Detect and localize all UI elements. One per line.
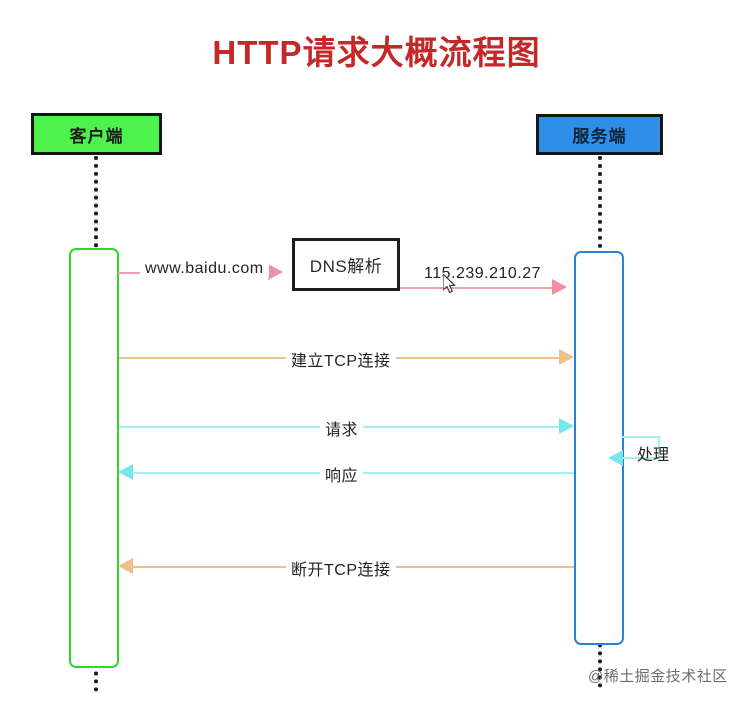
arrowhead-response bbox=[118, 464, 133, 480]
page-title: HTTP请求大概流程图 bbox=[0, 26, 753, 74]
message-label-dns-query: www.baidu.com bbox=[140, 260, 269, 278]
arrowhead-tcp-close bbox=[118, 558, 133, 574]
watermark: @稀土掘金技术社区 bbox=[588, 665, 728, 686]
arrowhead-dns-query bbox=[268, 264, 283, 280]
message-label-request: 请求 bbox=[320, 416, 363, 440]
arrowhead-dns-result bbox=[552, 279, 567, 295]
message-label-process: 处理 bbox=[637, 441, 669, 465]
activation-bar-server bbox=[574, 251, 624, 645]
activation-bar-client bbox=[69, 248, 119, 668]
participant-client-header: 客户端 bbox=[31, 113, 162, 155]
arrowhead-tcp-connect bbox=[559, 349, 574, 365]
message-label-response: 响应 bbox=[320, 462, 363, 486]
message-label-dns-result: 115.239.210.27 bbox=[419, 265, 546, 283]
diagram-canvas: HTTP请求大概流程图 客户端 服务端 DNS解析 www.baidu.com … bbox=[0, 0, 753, 705]
message-label-tcp-close: 断开TCP连接 bbox=[286, 556, 396, 580]
participant-server-header: 服务端 bbox=[536, 114, 663, 155]
message-line-dns-result bbox=[400, 287, 562, 289]
node-dns-resolution: DNS解析 bbox=[292, 238, 400, 291]
arrowhead-process bbox=[608, 450, 623, 466]
participant-client-label: 客户端 bbox=[70, 122, 124, 147]
participant-server-label: 服务端 bbox=[573, 122, 627, 147]
message-label-tcp-connect: 建立TCP连接 bbox=[286, 347, 396, 371]
node-dns-label: DNS解析 bbox=[310, 252, 382, 277]
arrowhead-request bbox=[559, 418, 574, 434]
